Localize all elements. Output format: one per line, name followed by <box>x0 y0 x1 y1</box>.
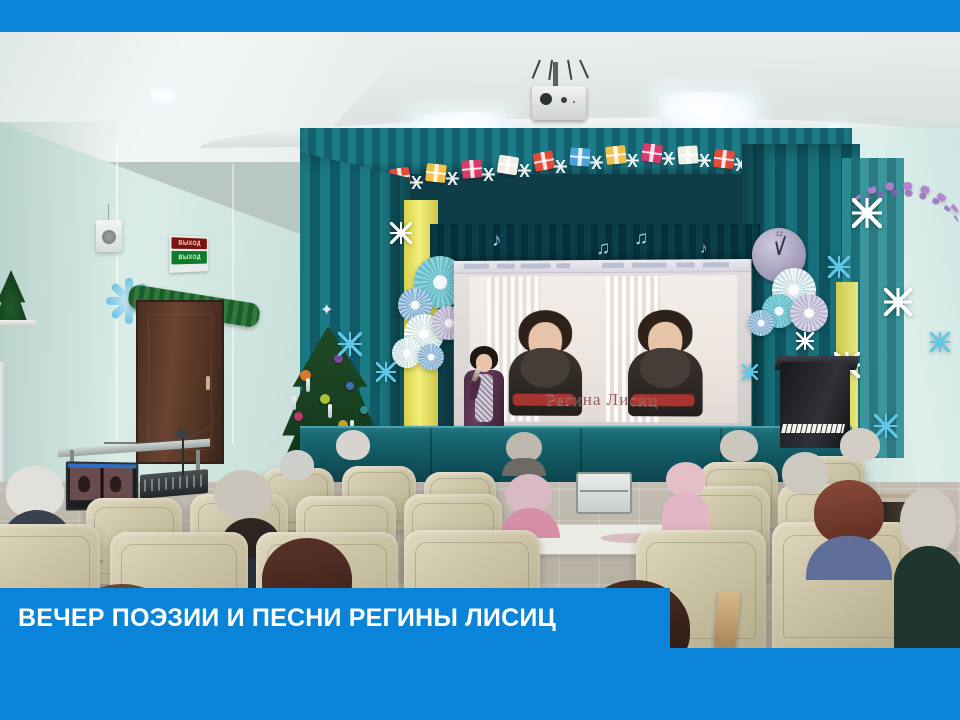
paper-rosette <box>790 294 828 332</box>
music-note-icon: ♪ <box>700 240 708 257</box>
snowflake-icon <box>796 332 814 350</box>
audience-person <box>502 432 546 474</box>
slide-title: Регина Лисиц <box>469 390 737 411</box>
screenshot-root: ♪ ♫ ♫ ♪ <box>0 0 960 720</box>
ceiling-projector-icon <box>532 86 586 120</box>
exit-sign-upper: ВЫХОД <box>171 237 206 249</box>
paper-rosette <box>748 310 774 336</box>
snowflake-icon <box>852 198 882 228</box>
tree-star-icon: ✦ <box>320 300 333 320</box>
caption-banner: ВЕЧЕР ПОЭЗИИ И ПЕСНИ РЕГИНЫ ЛИСИЦ <box>0 588 670 648</box>
audience-person <box>716 430 762 470</box>
snowflake-icon <box>828 256 850 278</box>
event-photograph: ♪ ♫ ♫ ♪ <box>0 32 960 648</box>
audience-person <box>500 474 560 536</box>
audience-person <box>276 450 318 484</box>
slide-content: Регина Лисиц <box>469 275 737 422</box>
microphone-icon <box>176 430 188 438</box>
snowflake-icon <box>390 222 412 244</box>
music-note-icon: ♫ <box>596 238 610 260</box>
snowflake-icon <box>884 288 912 316</box>
bottom-letterbox-bar <box>0 648 960 720</box>
music-note-icon: ♪ <box>492 230 502 252</box>
music-note-icon: ♫ <box>634 228 648 250</box>
wall-shelf <box>0 320 36 326</box>
exit-sign-label: ВЫХОД <box>178 254 200 260</box>
paper-rosette <box>418 344 444 370</box>
wall-speaker-icon <box>96 220 122 252</box>
audience-person <box>662 462 710 532</box>
step-stool <box>576 472 632 514</box>
microphone-stand <box>182 436 184 476</box>
ceiling-downlight <box>148 88 178 104</box>
projector-arms <box>537 60 583 78</box>
audience-person <box>806 480 892 576</box>
snowflake-icon <box>742 364 758 380</box>
caption-title: ВЕЧЕР ПОЭЗИИ И ПЕСНИ РЕГИНЫ ЛИСИЦ <box>0 604 556 633</box>
snowflake-icon <box>930 332 950 352</box>
audience-person <box>836 428 884 472</box>
slide-app-toolbar <box>454 259 752 274</box>
audience-person <box>900 488 960 648</box>
exit-sign: ВЫХОД ВЫХОД <box>170 235 209 273</box>
exit-sign-lower: ВЫХОД <box>171 251 206 265</box>
snowflake-icon <box>338 332 362 356</box>
audience-person <box>208 470 280 520</box>
top-letterbox-bar <box>0 0 960 32</box>
audience-person <box>332 430 374 464</box>
